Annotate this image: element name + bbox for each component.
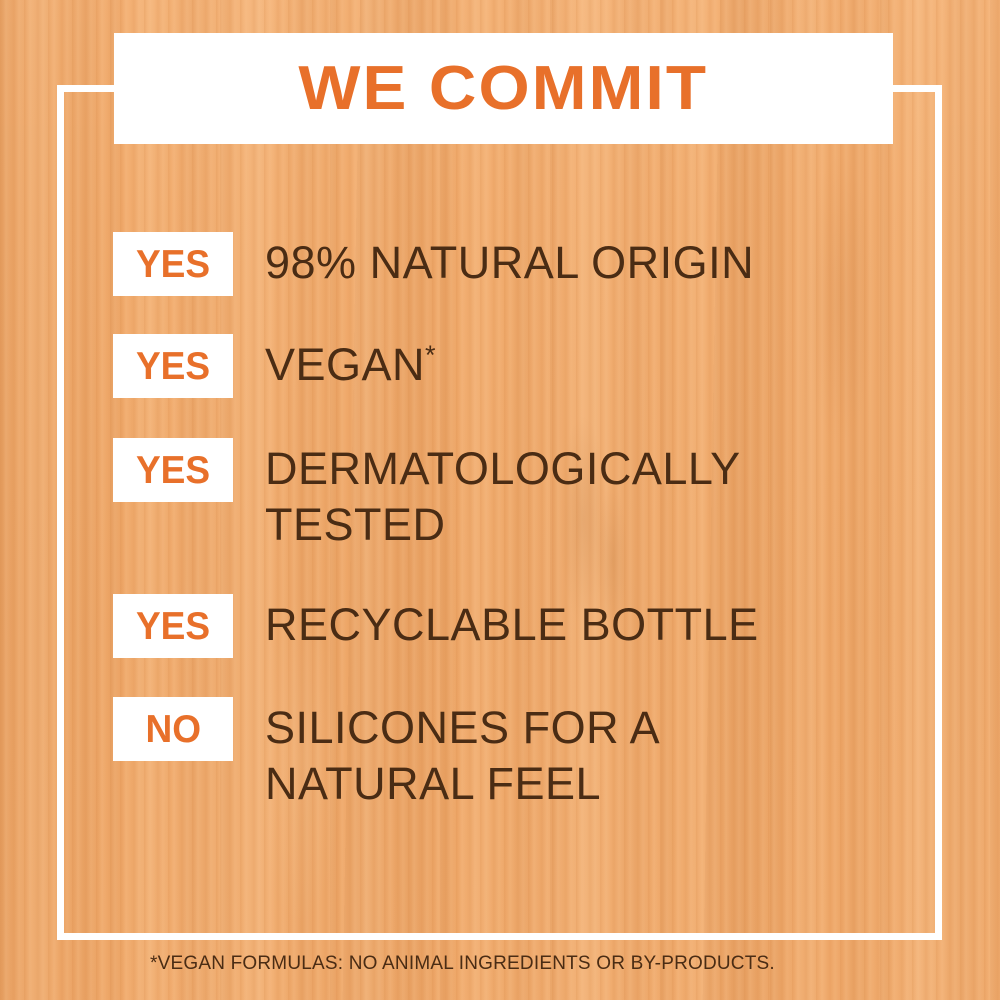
list-item: NO SILICONES FOR A NATURAL FEEL [113, 697, 660, 812]
status-badge: YES [113, 438, 233, 502]
commitment-text-value: SILICONES FOR A NATURAL FEEL [265, 702, 660, 809]
status-badge: NO [113, 697, 233, 761]
status-badge-label: YES [136, 607, 210, 646]
status-badge-label: NO [145, 710, 201, 749]
list-item: YES RECYCLABLE BOTTLE [113, 594, 759, 658]
status-badge: YES [113, 232, 233, 296]
commitment-text-value: DERMATOLOGICALLY TESTED [265, 443, 741, 550]
frame-top-right-segment [885, 85, 942, 92]
asterisk-marker: * [425, 340, 436, 370]
list-item: YES 98% NATURAL ORIGIN [113, 232, 754, 296]
commitment-text: 98% NATURAL ORIGIN [265, 232, 754, 291]
commitment-text: SILICONES FOR A NATURAL FEEL [265, 697, 660, 812]
list-item: YES VEGAN* [113, 334, 436, 398]
commitment-text-value: VEGAN [265, 339, 425, 390]
footnote: *VEGAN FORMULAS: NO ANIMAL INGREDIENTS O… [150, 953, 775, 975]
status-badge-label: YES [136, 245, 210, 284]
promo-card: WE COMMIT YES 98% NATURAL ORIGIN YES VEG… [0, 0, 1000, 1000]
frame-top-left-segment [57, 85, 121, 92]
commitment-text-value: 98% NATURAL ORIGIN [265, 237, 754, 288]
status-badge-label: YES [136, 451, 210, 490]
commitment-text-value: RECYCLABLE BOTTLE [265, 599, 759, 650]
status-badge-label: YES [136, 347, 210, 386]
title-banner: WE COMMIT [114, 33, 893, 144]
commitment-text: DERMATOLOGICALLY TESTED [265, 438, 741, 553]
status-badge: YES [113, 594, 233, 658]
list-item: YES DERMATOLOGICALLY TESTED [113, 438, 741, 553]
commitment-text: RECYCLABLE BOTTLE [265, 594, 759, 653]
page-title: WE COMMIT [299, 58, 709, 120]
status-badge: YES [113, 334, 233, 398]
commitment-text: VEGAN* [265, 334, 436, 393]
